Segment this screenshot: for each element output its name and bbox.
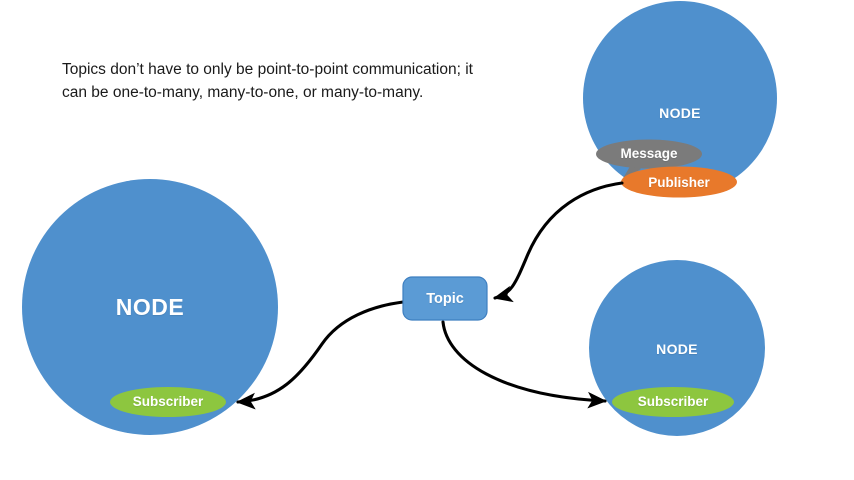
- diagram-canvas: [0, 0, 854, 480]
- message-ellipse[interactable]: [596, 140, 702, 169]
- connector-topic-to-right-subscriber[interactable]: [443, 322, 605, 401]
- slide-canvas: Topics don’t have to only be point-to-po…: [0, 0, 854, 480]
- connector-publisher-to-topic[interactable]: [495, 183, 622, 298]
- topic-box[interactable]: [403, 277, 487, 320]
- subscriber-ellipse-right[interactable]: [612, 387, 734, 417]
- node-top-right-circle[interactable]: [583, 1, 777, 195]
- publisher-ellipse[interactable]: [621, 167, 737, 198]
- subscriber-ellipse-left[interactable]: [110, 387, 226, 417]
